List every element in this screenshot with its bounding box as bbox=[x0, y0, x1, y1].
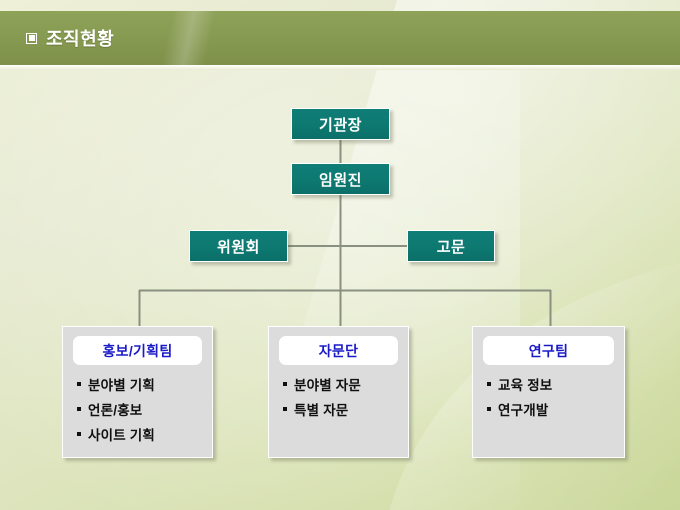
list-bullet-icon bbox=[487, 382, 491, 386]
org-node-advisor-label: 고문 bbox=[437, 236, 466, 257]
list-item: 분야별 기획 bbox=[77, 374, 212, 394]
header-underline bbox=[0, 65, 680, 70]
list-item-label: 사이트 기획 bbox=[88, 424, 155, 444]
org-node-executive-label: 임원진 bbox=[319, 169, 362, 190]
team-panel-research-title-pill: 연구팀 bbox=[483, 336, 614, 365]
list-item-label: 분야별 기획 bbox=[88, 374, 155, 394]
header-band: 조직현황 bbox=[0, 11, 680, 65]
team-panel-research[interactable]: 연구팀 교육 정보 연구개발 bbox=[472, 326, 625, 458]
org-node-director-label: 기관장 bbox=[319, 114, 362, 135]
list-item-label: 연구개발 bbox=[498, 399, 548, 419]
team-panel-advisory-list: 분야별 자문 특별 자문 bbox=[269, 374, 408, 419]
team-panel-research-list: 교육 정보 연구개발 bbox=[473, 374, 624, 419]
list-item-label: 특별 자문 bbox=[294, 399, 348, 419]
org-node-director[interactable]: 기관장 bbox=[291, 108, 390, 140]
team-panel-pr-title: 홍보/기획팀 bbox=[102, 341, 172, 361]
org-node-advisor[interactable]: 고문 bbox=[407, 230, 495, 262]
page-title: 조직현황 bbox=[46, 25, 114, 51]
list-bullet-icon bbox=[77, 382, 81, 386]
list-bullet-icon bbox=[487, 407, 491, 411]
list-item: 교육 정보 bbox=[487, 374, 624, 394]
list-bullet-icon bbox=[283, 407, 287, 411]
list-item: 언론/홍보 bbox=[77, 399, 212, 419]
list-item: 연구개발 bbox=[487, 399, 624, 419]
list-item-label: 언론/홍보 bbox=[88, 399, 142, 419]
team-panel-pr[interactable]: 홍보/기획팀 분야별 기획 언론/홍보 사이트 기획 bbox=[62, 326, 213, 458]
team-panel-advisory[interactable]: 자문단 분야별 자문 특별 자문 bbox=[268, 326, 409, 458]
team-panel-research-title: 연구팀 bbox=[529, 341, 569, 361]
list-item: 사이트 기획 bbox=[77, 424, 212, 444]
list-bullet-icon bbox=[77, 407, 81, 411]
list-bullet-icon bbox=[283, 382, 287, 386]
org-node-committee[interactable]: 위원회 bbox=[189, 230, 288, 262]
list-item-label: 분야별 자문 bbox=[294, 374, 361, 394]
team-panel-advisory-title: 자문단 bbox=[319, 341, 359, 361]
org-node-executive[interactable]: 임원진 bbox=[291, 163, 390, 195]
list-bullet-icon bbox=[77, 432, 81, 436]
list-item: 특별 자문 bbox=[283, 399, 408, 419]
org-node-committee-label: 위원회 bbox=[217, 236, 260, 257]
team-panel-pr-list: 분야별 기획 언론/홍보 사이트 기획 bbox=[63, 374, 212, 444]
list-item: 분야별 자문 bbox=[283, 374, 408, 394]
team-panel-pr-title-pill: 홍보/기획팀 bbox=[73, 336, 202, 365]
team-panel-advisory-title-pill: 자문단 bbox=[279, 336, 398, 365]
slide-canvas: 조직현황 기관장 임원진 위원회 고문 bbox=[0, 0, 680, 510]
list-item-label: 교육 정보 bbox=[498, 374, 552, 394]
square-bullet-icon bbox=[26, 33, 37, 44]
